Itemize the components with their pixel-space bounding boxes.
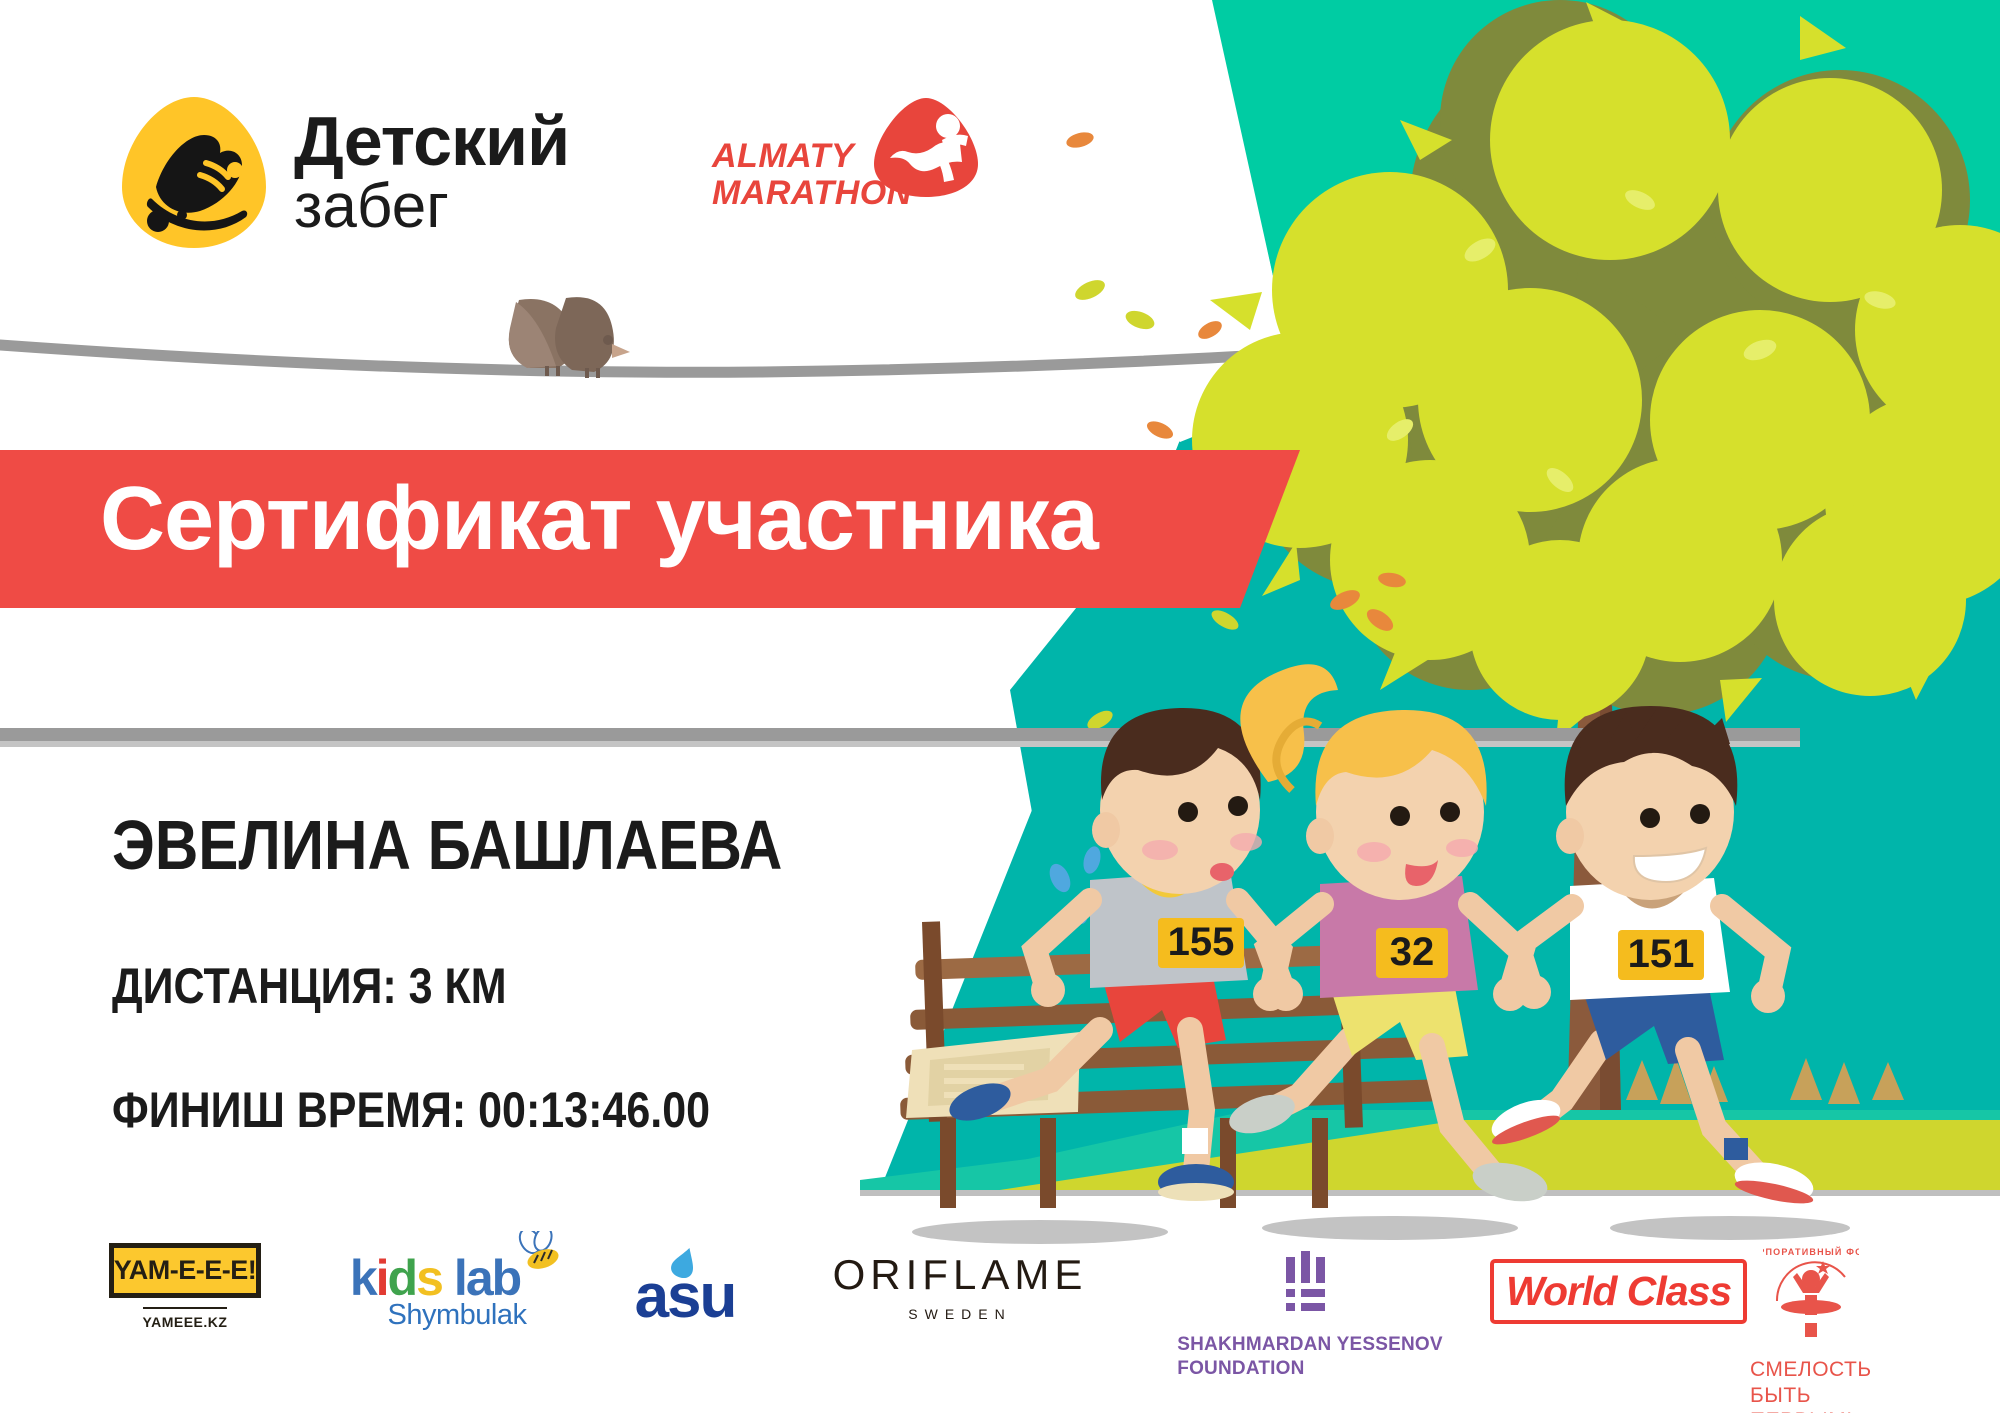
participant-name: ЭВЕЛИНА БАШЛАЕВА xyxy=(112,805,782,885)
oriflame-sub: SWEDEN xyxy=(908,1306,1011,1322)
smelost-line1: СМЕЛОСТЬ xyxy=(1750,1357,1872,1383)
lower-divider-line-shadow xyxy=(0,741,1800,747)
almaty-marathon-logo: ALMATY MARATHON xyxy=(712,96,972,236)
sponsor-oriflame: ORIFLAME SWEDEN xyxy=(820,1251,1100,1322)
bib-number: 155 xyxy=(1168,920,1235,964)
bib-number: 32 xyxy=(1390,930,1435,974)
kids-letter-s: s xyxy=(416,1250,442,1306)
brand-logo-line2: забег xyxy=(294,178,569,236)
kids-letter-k: k xyxy=(350,1250,376,1306)
yam-logo-url: YAMEEE.KZ xyxy=(143,1307,228,1330)
child-with-raised-arms-icon: КОРПОРАТИВНЫЙ ФОНД xyxy=(1763,1239,1859,1345)
brand-logo: Детский забег xyxy=(120,95,569,250)
oriflame-wordmark: ORIFLAME xyxy=(833,1251,1088,1299)
brand-logo-line1: Детский xyxy=(294,109,569,174)
kids-letter-a: a xyxy=(466,1250,492,1306)
yessenov-line2: FOUNDATION xyxy=(1177,1357,1442,1381)
bee-icon xyxy=(516,1231,562,1271)
bib-number: 151 xyxy=(1628,932,1695,976)
smelost-line3: ПЕРВЫМ! xyxy=(1750,1408,1872,1413)
sponsor-strip: YAM-E-E-E! YAMEEE.KZ kidslab Shymbulak a… xyxy=(0,1237,2000,1357)
yessenov-bars-icon xyxy=(1282,1251,1338,1317)
certificate-canvas: 155 xyxy=(0,0,2000,1413)
kids-lab-wordmark: kidslab xyxy=(350,1253,520,1303)
certificate-title: Сертификат участника xyxy=(100,468,1098,571)
yessenov-line1: SHAKHMARDAN YESSENOV xyxy=(1177,1333,1442,1357)
sponsor-smelost-byt-pervym: КОРПОРАТИВНЫЙ ФОНД СМЕЛОСТЬ БЫТЬ ПЕРВЫМ! xyxy=(1750,1239,1872,1413)
kids-letter-l: l xyxy=(454,1250,466,1306)
smelost-wordmark: СМЕЛОСТЬ БЫТЬ ПЕРВЫМ! xyxy=(1750,1357,1872,1413)
smelost-line2: БЫТЬ xyxy=(1750,1383,1872,1409)
brand-logo-wordmark: Детский забег xyxy=(294,109,569,236)
sponsor-world-class: World Class xyxy=(1490,1259,1747,1324)
running-shoe-icon xyxy=(120,95,268,250)
sponsor-kids-lab-shymbulak: kidslab Shymbulak xyxy=(320,1237,550,1347)
participant-finish-time: ФИНИШ ВРЕМЯ: 00:13:46.00 xyxy=(112,1081,782,1139)
participant-distance: ДИСТАНЦИЯ: 3 КМ xyxy=(112,957,782,1015)
ground-path-fill xyxy=(860,1196,2000,1212)
participant-info: ЭВЕЛИНА БАШЛАЕВА ДИСТАНЦИЯ: 3 КМ ФИНИШ В… xyxy=(112,805,892,1139)
kids-lab-sub: Shymbulak xyxy=(388,1299,527,1332)
sponsor-yessenov-foundation: SHAKHMARDAN YESSENOV FOUNDATION xyxy=(1160,1251,1460,1382)
yam-logo-bar: YAM-E-E-E! xyxy=(109,1243,262,1298)
sponsor-asu: asu xyxy=(615,1247,755,1347)
yessenov-wordmark: SHAKHMARDAN YESSENOV FOUNDATION xyxy=(1177,1333,1442,1382)
water-droplet-icon xyxy=(671,1245,697,1279)
kids-letter-d: d xyxy=(388,1250,417,1306)
world-class-wordmark: World Class xyxy=(1490,1259,1747,1324)
lower-divider-line xyxy=(0,728,1800,741)
svg-text:КОРПОРАТИВНЫЙ ФОНД: КОРПОРАТИВНЫЙ ФОНД xyxy=(1763,1246,1859,1257)
sponsor-yam-e-e-e: YAM-E-E-E! YAMEEE.KZ xyxy=(100,1243,270,1330)
kids-letter-i: i xyxy=(376,1250,388,1306)
almaty-marathon-runner-icon xyxy=(872,96,980,200)
